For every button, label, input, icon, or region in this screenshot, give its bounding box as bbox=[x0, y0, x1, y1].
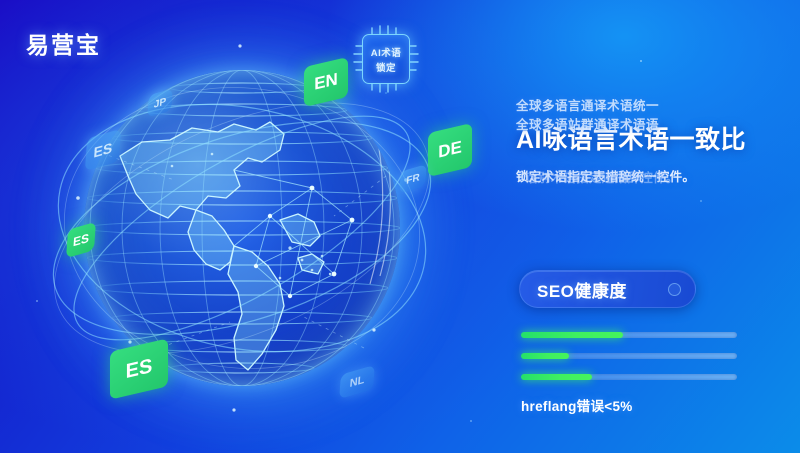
seo-progress-bars: hreflang错误<5% bbox=[521, 332, 737, 415]
ai-terminology-chip[interactable]: AI术语 锁定 bbox=[352, 24, 420, 94]
progress-bar-1-fill bbox=[521, 332, 623, 338]
hreflang-error-note: hreflang错误<5% bbox=[521, 395, 737, 415]
seo-health-pill[interactable]: SEO健康度 bbox=[519, 270, 696, 308]
seo-health-label: SEO健康度 bbox=[537, 277, 627, 302]
hero-text-panel: 全球多语言通译术语统一 全球多语站群通译术语语 AI咏语言术语一致比 锁定术语指… bbox=[516, 95, 778, 186]
spark-particle bbox=[640, 60, 642, 62]
hero-eyebrow-wrap: 全球多语言通译术语统一 全球多语站群通译术语语 bbox=[516, 95, 778, 113]
hero-subline-wrap: 锁定术语指定表措辞统一控件。 话别术语指定连措辞控件。 bbox=[516, 166, 778, 186]
progress-bar-3-fill bbox=[521, 374, 592, 380]
progress-bar-1 bbox=[521, 332, 737, 338]
progress-bar-3 bbox=[521, 374, 737, 380]
chip-body: AI术语 锁定 bbox=[362, 34, 410, 84]
hero-subline-ghost: 话别术语指定连措辞控件。 bbox=[525, 167, 679, 186]
progress-bar-2-fill bbox=[521, 353, 569, 359]
hero-eyebrow-ghost: 全球多语站群通译术语语 bbox=[516, 114, 778, 133]
banner-stage: 易营宝 bbox=[0, 0, 800, 453]
brand-logo: 易营宝 bbox=[26, 26, 101, 60]
hero-eyebrow: 全球多语言通译术语统一 bbox=[516, 95, 778, 114]
progress-bar-2 bbox=[521, 353, 737, 359]
chip-label-line2: 锁定 bbox=[376, 60, 396, 74]
spark-particle bbox=[470, 420, 472, 422]
spark-particle bbox=[700, 200, 702, 202]
seo-health-indicator-icon bbox=[668, 283, 681, 296]
chip-label-line1: AI术语 bbox=[371, 45, 402, 59]
